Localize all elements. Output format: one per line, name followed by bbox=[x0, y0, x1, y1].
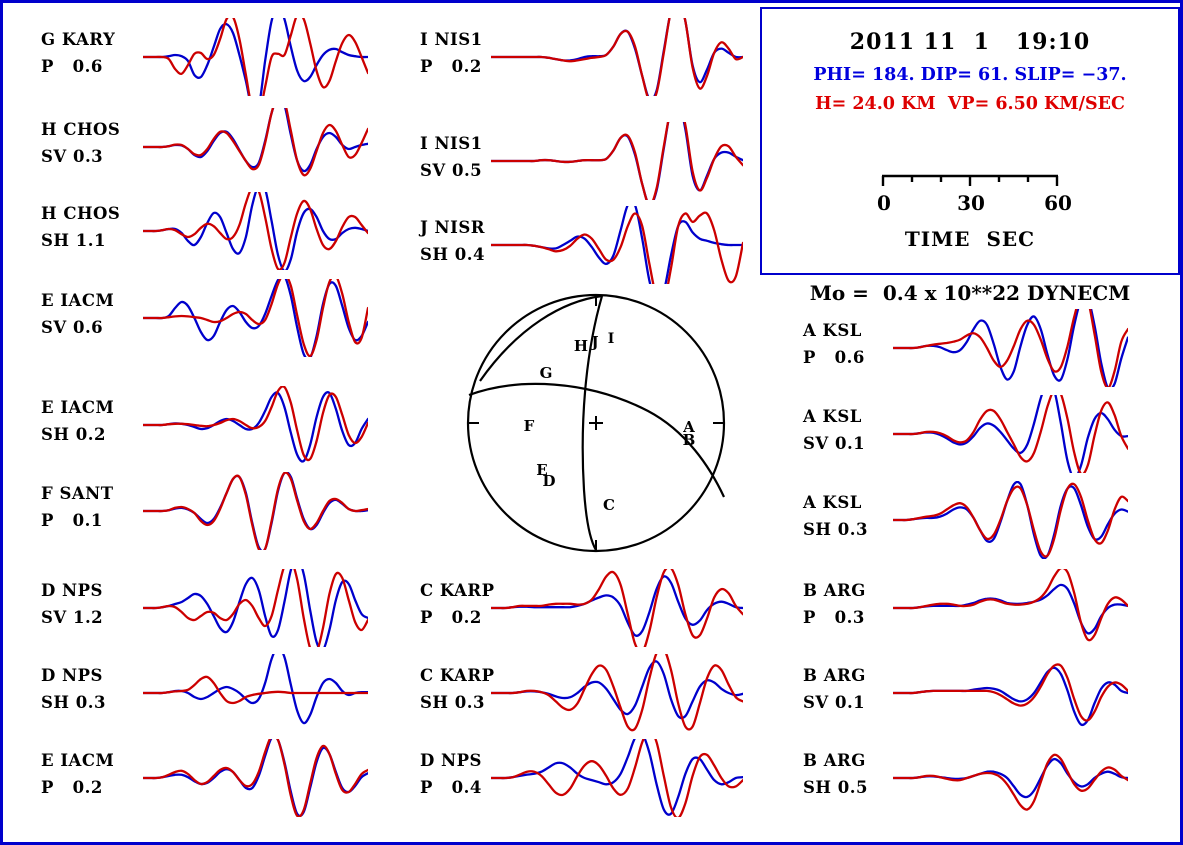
depth-velocity-parameters: H= 24.0 KM VP= 6.50 KM/SEC bbox=[762, 94, 1178, 114]
beachball-station-b: B bbox=[683, 431, 696, 449]
station-code-label: H CHOS bbox=[41, 120, 120, 139]
waveform-trace bbox=[143, 654, 368, 732]
focal-mechanism-parameters: PHI= 184. DIP= 61. SLIP= −37. bbox=[762, 65, 1178, 85]
synthetic-waveform bbox=[143, 108, 368, 171]
observed-waveform bbox=[893, 395, 1128, 473]
phase-amplitude-label: P 0.2 bbox=[420, 57, 482, 76]
time-tick-30: 30 bbox=[957, 191, 985, 215]
station-code-label: E IACM bbox=[41, 398, 114, 417]
phase-amplitude-label: P 0.2 bbox=[420, 608, 482, 627]
phase-amplitude-label: SV 0.1 bbox=[803, 434, 865, 453]
waveform-trace bbox=[491, 569, 743, 647]
waveform-trace bbox=[143, 192, 368, 270]
station-code-label: I NIS1 bbox=[420, 134, 483, 153]
observed-waveform bbox=[491, 213, 743, 284]
beachball-station-g: G bbox=[540, 364, 553, 382]
phase-amplitude-label: SH 0.3 bbox=[803, 520, 868, 539]
synthetic-waveform bbox=[893, 585, 1128, 634]
waveform-trace bbox=[893, 395, 1128, 473]
phase-amplitude-label: SH 0.5 bbox=[803, 778, 868, 797]
observed-waveform bbox=[491, 569, 743, 647]
observed-waveform bbox=[893, 664, 1128, 720]
observed-waveform bbox=[491, 122, 743, 200]
beachball-station-e: E bbox=[536, 461, 547, 479]
phase-amplitude-label: SH 0.3 bbox=[420, 693, 485, 712]
station-code-label: I NIS1 bbox=[420, 30, 483, 49]
phase-amplitude-label: P 0.1 bbox=[41, 511, 103, 530]
station-code-label: B ARG bbox=[803, 751, 866, 770]
phase-amplitude-label: SV 0.1 bbox=[803, 693, 865, 712]
waveform-trace bbox=[893, 309, 1128, 387]
time-tick-60: 60 bbox=[1044, 191, 1072, 215]
phase-amplitude-label: SV 0.5 bbox=[420, 161, 482, 180]
observed-waveform bbox=[143, 108, 368, 175]
beachball-station-i: I bbox=[608, 331, 615, 347]
station-code-label: A KSL bbox=[803, 493, 862, 512]
phase-amplitude-label: P 0.6 bbox=[41, 57, 103, 76]
waveform-trace bbox=[143, 18, 368, 96]
event-info-box: 2011 11 1 19:10 PHI= 184. DIP= 61. SLIP=… bbox=[760, 7, 1180, 275]
waveform-trace bbox=[491, 654, 743, 732]
waveform-trace bbox=[893, 654, 1128, 732]
observed-waveform bbox=[143, 739, 368, 817]
observed-waveform bbox=[143, 473, 368, 550]
focal-mechanism-beachball: A B C D E F G H I J bbox=[458, 285, 738, 565]
phase-amplitude-label: SV 1.2 bbox=[41, 608, 103, 627]
observed-waveform bbox=[143, 386, 368, 460]
waveform-trace bbox=[893, 739, 1128, 817]
station-code-label: H CHOS bbox=[41, 204, 120, 223]
beachball-station-h: H bbox=[574, 337, 588, 355]
phase-amplitude-label: SV 0.3 bbox=[41, 147, 103, 166]
waveform-trace bbox=[491, 18, 743, 96]
time-axis-label: TIME SEC bbox=[762, 227, 1178, 251]
waveform-trace bbox=[893, 569, 1128, 647]
waveform-trace bbox=[491, 122, 743, 200]
station-code-label: A KSL bbox=[803, 407, 862, 426]
observed-waveform bbox=[143, 192, 368, 270]
station-code-label: E IACM bbox=[41, 291, 114, 310]
station-code-label: D NPS bbox=[420, 751, 482, 770]
station-code-label: A KSL bbox=[803, 321, 862, 340]
beachball-station-f: F bbox=[524, 417, 535, 435]
seismogram-figure: 2011 11 1 19:10 PHI= 184. DIP= 61. SLIP=… bbox=[0, 0, 1183, 845]
observed-waveform bbox=[491, 18, 743, 96]
station-code-label: B ARG bbox=[803, 666, 866, 685]
station-code-label: F SANT bbox=[41, 484, 114, 503]
observed-waveform bbox=[893, 309, 1128, 387]
station-code-label: C KARP bbox=[420, 581, 494, 600]
phase-amplitude-label: SH 0.2 bbox=[41, 425, 106, 444]
phase-amplitude-label: P 0.3 bbox=[803, 608, 865, 627]
waveform-trace bbox=[143, 569, 368, 647]
time-scale-bar bbox=[880, 174, 1060, 188]
observed-waveform bbox=[143, 279, 368, 356]
station-code-label: D NPS bbox=[41, 581, 103, 600]
waveform-trace bbox=[143, 279, 368, 357]
phase-amplitude-label: P 0.6 bbox=[803, 348, 865, 367]
phase-amplitude-label: SH 0.3 bbox=[41, 693, 106, 712]
observed-waveform bbox=[893, 484, 1128, 557]
synthetic-waveform bbox=[893, 395, 1128, 473]
station-code-label: D NPS bbox=[41, 666, 103, 685]
waveform-trace bbox=[143, 386, 368, 464]
station-code-label: C KARP bbox=[420, 666, 494, 685]
station-code-label: E IACM bbox=[41, 751, 114, 770]
waveform-trace bbox=[491, 739, 743, 817]
synthetic-waveform bbox=[143, 279, 368, 357]
station-code-label: J NISR bbox=[420, 218, 485, 237]
waveform-trace bbox=[143, 739, 368, 817]
seismic-moment-label: Mo = 0.4 x 10**22 DYNECM bbox=[760, 281, 1180, 305]
phase-amplitude-label: P 0.4 bbox=[420, 778, 482, 797]
observed-waveform bbox=[143, 18, 368, 96]
synthetic-waveform bbox=[143, 654, 368, 723]
phase-amplitude-label: SH 1.1 bbox=[41, 231, 106, 250]
synthetic-waveform bbox=[143, 18, 368, 96]
station-code-label: G KARY bbox=[41, 30, 115, 49]
event-datetime: 2011 11 1 19:10 bbox=[762, 29, 1178, 55]
phase-amplitude-label: SH 0.4 bbox=[420, 245, 485, 264]
synthetic-waveform bbox=[491, 739, 743, 815]
beachball-station-j: J bbox=[591, 333, 598, 351]
synthetic-waveform bbox=[143, 392, 368, 461]
phase-amplitude-label: P 0.2 bbox=[41, 778, 103, 797]
time-tick-0: 0 bbox=[877, 191, 891, 215]
waveform-trace bbox=[143, 108, 368, 186]
beachball-svg bbox=[458, 285, 738, 565]
waveform-trace bbox=[143, 472, 368, 550]
beachball-station-c: C bbox=[603, 496, 615, 514]
waveform-trace bbox=[893, 481, 1128, 559]
phase-amplitude-label: SV 0.6 bbox=[41, 318, 103, 337]
waveform-trace bbox=[491, 206, 743, 284]
station-code-label: B ARG bbox=[803, 581, 866, 600]
